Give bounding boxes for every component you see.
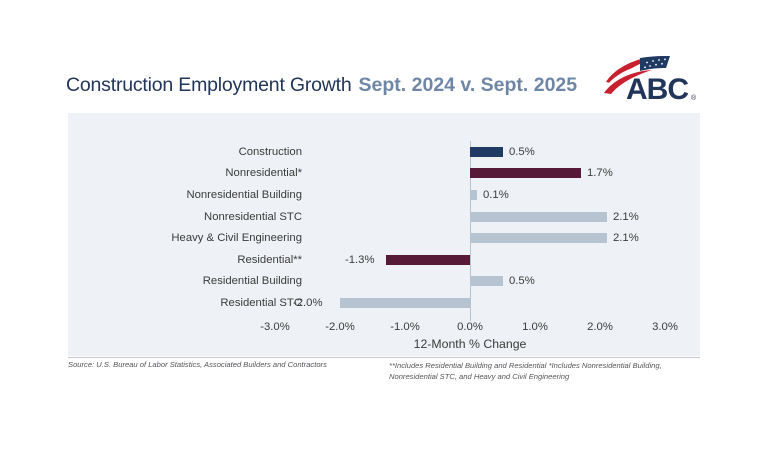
value-label: 2.1%: [613, 232, 639, 244]
category-label: Residential STC: [220, 297, 302, 309]
chart-title: Construction Employment Growth Sept. 202…: [66, 68, 606, 102]
table-row: Nonresidential* 1.7%: [68, 163, 700, 185]
bar: [470, 147, 503, 157]
bar: [470, 276, 503, 286]
x-tick-label: -3.0%: [260, 321, 290, 333]
category-label: Nonresidential*: [225, 167, 302, 179]
table-row: Heavy & Civil Engineering 2.1%: [68, 227, 700, 249]
table-row: Residential STC -2.0%: [68, 292, 700, 314]
table-row: Residential Building 0.5%: [68, 271, 700, 293]
value-label: 0.5%: [509, 275, 535, 287]
value-label: -2.0%: [293, 297, 323, 309]
svg-text:ABC: ABC: [626, 73, 688, 104]
category-label: Heavy & Civil Engineering: [171, 232, 302, 244]
bar: [386, 255, 471, 265]
value-label: 1.7%: [587, 167, 613, 179]
category-label: Residential Building: [203, 275, 302, 287]
table-row: Construction 0.5%: [68, 141, 700, 163]
footer-divider: [68, 357, 700, 358]
x-tick-label: 3.0%: [652, 321, 678, 333]
bar: [470, 212, 607, 222]
methodology-note: **Includes Residential Building and Resi…: [389, 360, 689, 382]
svg-text:®: ®: [691, 94, 696, 102]
plot-area: Construction 0.5% Nonresidential* 1.7% N…: [68, 113, 700, 356]
value-label: 0.1%: [483, 189, 509, 201]
x-tick-label: 2.0%: [587, 321, 613, 333]
x-axis-title: 12-Month % Change: [414, 337, 527, 351]
chart-title-accent: Sept. 2024 v. Sept. 2025: [359, 74, 578, 97]
abc-logo-graphic: ABC ®: [600, 54, 696, 104]
slide-canvas: Construction Employment Growth Sept. 202…: [0, 0, 768, 454]
abc-logo: ABC ®: [600, 54, 696, 104]
category-label: Nonresidential STC: [204, 211, 302, 223]
category-label: Construction: [239, 146, 302, 158]
value-label: -1.3%: [345, 254, 375, 266]
bar: [340, 298, 470, 308]
category-label: Nonresidential Building: [186, 189, 302, 201]
x-tick-label: -2.0%: [325, 321, 355, 333]
x-tick-label: 0.0%: [457, 321, 483, 333]
bar: [470, 168, 581, 178]
table-row: Nonresidential Building 0.1%: [68, 184, 700, 206]
table-row: Nonresidential STC 2.1%: [68, 206, 700, 228]
value-label: 0.5%: [509, 146, 535, 158]
chart-title-main: Construction Employment Growth: [66, 74, 352, 97]
table-row: Residential** -1.3%: [68, 249, 700, 271]
source-note: Source: U.S. Bureau of Labor Statistics,…: [68, 360, 388, 370]
bar: [470, 233, 607, 243]
value-label: 2.1%: [613, 211, 639, 223]
chart-panel: Construction 0.5% Nonresidential* 1.7% N…: [68, 113, 700, 356]
x-tick-label: -1.0%: [390, 321, 420, 333]
abc-wordmark: ABC ®: [626, 73, 696, 104]
x-tick-label: 1.0%: [522, 321, 548, 333]
x-axis: -3.0% -2.0% -1.0% 0.0% 1.0% 2.0% 3.0%: [68, 321, 700, 343]
category-label: Residential**: [237, 254, 302, 266]
bar: [470, 190, 477, 200]
